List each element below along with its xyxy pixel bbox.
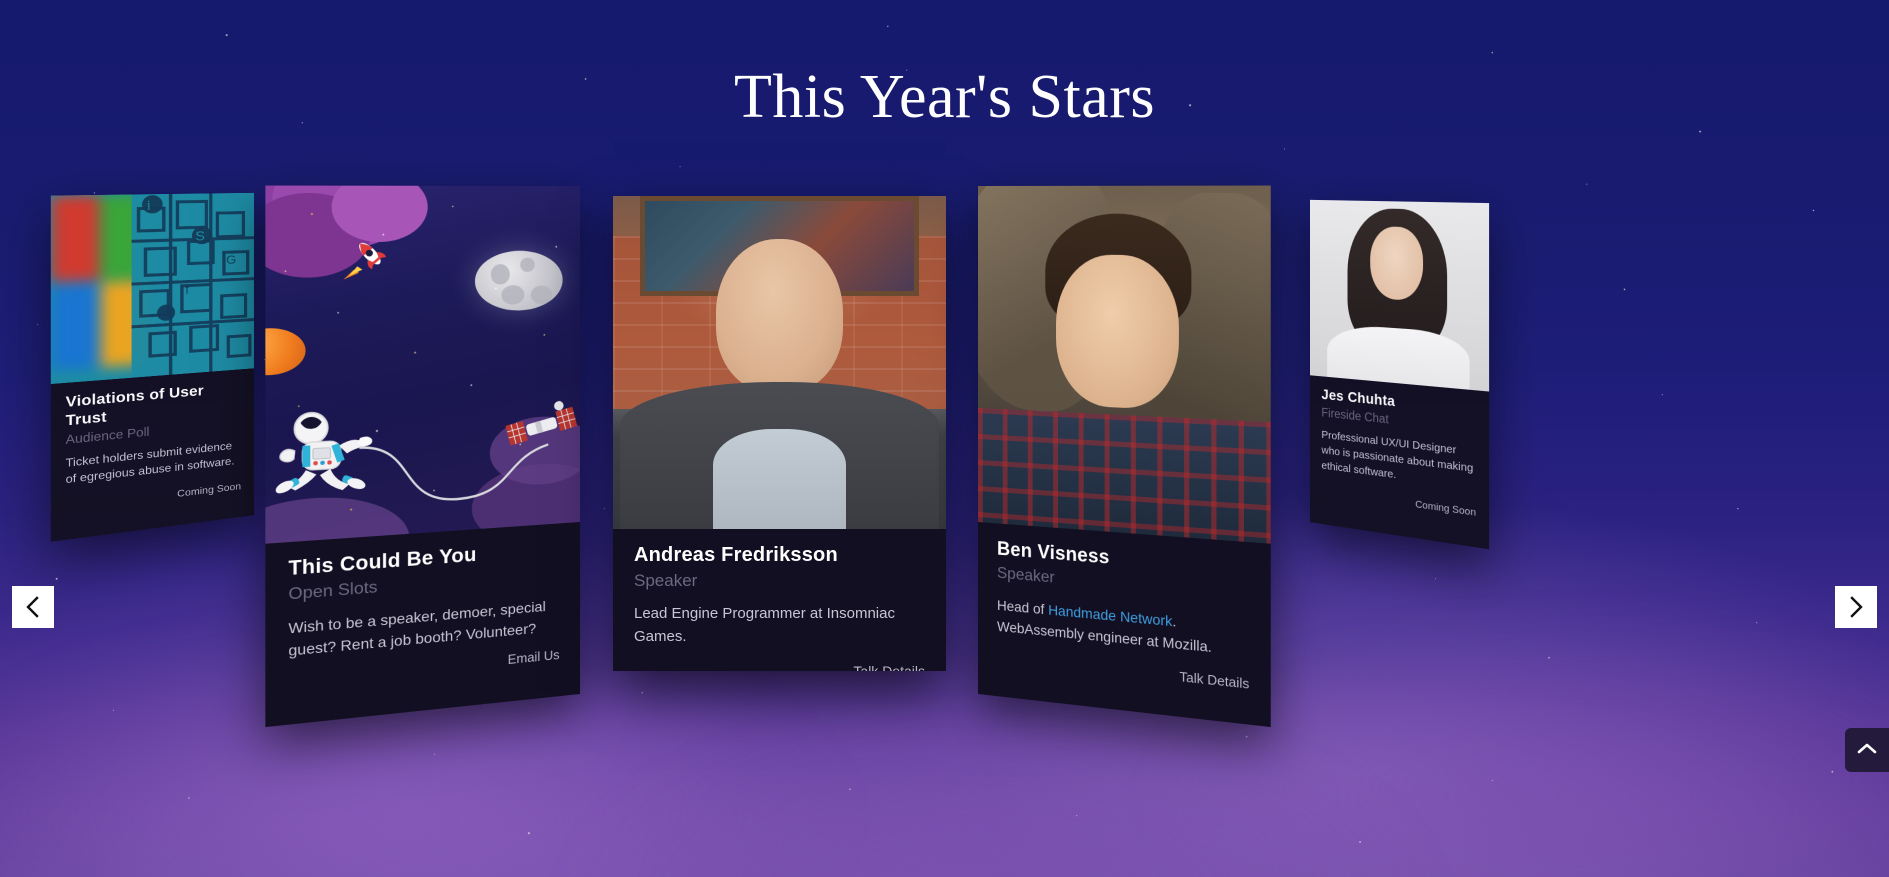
card-body: This Could Be You Open Slots Wish to be … [265, 522, 580, 727]
card-description: Professional UX/UI Designer who is passi… [1321, 427, 1476, 494]
card-body: Ben Visness Speaker Head of Handmade Net… [978, 522, 1271, 727]
card-media [978, 186, 1271, 544]
page-title: This Year's Stars [0, 62, 1889, 133]
svg-text:f: f [185, 283, 189, 297]
carousel-card-andreas-fredriksson[interactable]: Andreas Fredriksson Speaker Lead Engine … [613, 196, 946, 671]
svg-text:i: i [147, 198, 151, 213]
svg-text:G: G [226, 254, 236, 268]
chevron-up-icon [1857, 742, 1877, 759]
card-body: Violations of User Trust Audience Poll T… [51, 368, 254, 542]
card-description: Head of Handmade Network. WebAssembly en… [997, 594, 1249, 663]
windows-tech-illustration-icon: i S f G [51, 193, 254, 384]
chevron-left-icon [23, 595, 43, 619]
photo-andreas-fredriksson-icon [613, 196, 946, 529]
card-media: i S f G [51, 193, 254, 384]
card-media [265, 186, 580, 544]
card-title: Andreas Fredriksson [634, 543, 925, 568]
card-description: Lead Engine Programmer at Insomniac Game… [634, 602, 925, 649]
svg-text:S: S [195, 229, 205, 244]
card-media [613, 196, 946, 529]
carousel-next-button[interactable] [1835, 586, 1877, 628]
carousel-card-this-could-be-you[interactable]: This Could Be You Open Slots Wish to be … [265, 186, 580, 728]
carousel-card-jes-chuhta[interactable]: Jes Chuhta Fireside Chat Professional UX… [1310, 200, 1489, 549]
card-role: Speaker [634, 570, 925, 592]
card-body: Andreas Fredriksson Speaker Lead Engine … [613, 529, 946, 671]
photo-ben-visness-icon [978, 186, 1271, 544]
carousel-card-ben-visness[interactable]: Ben Visness Speaker Head of Handmade Net… [978, 186, 1271, 728]
carousel-card-violations-of-user-trust[interactable]: i S f G Violations of User Trust Audienc… [51, 193, 254, 542]
scroll-to-top-button[interactable] [1845, 728, 1889, 772]
tech-icon-pattern: i S f G [131, 193, 254, 378]
card-action-link[interactable]: Coming Soon [66, 481, 241, 514]
astronaut-space-illustration-icon [265, 186, 580, 544]
desc-text-before: Head of [997, 596, 1048, 617]
card-media [1310, 200, 1489, 392]
card-body: Jes Chuhta Fireside Chat Professional UX… [1310, 375, 1489, 549]
carousel-prev-button[interactable] [12, 586, 54, 628]
photo-jes-chuhta-icon [1310, 200, 1489, 392]
chevron-right-icon [1846, 595, 1866, 619]
card-action-link[interactable]: Talk Details [634, 663, 925, 671]
